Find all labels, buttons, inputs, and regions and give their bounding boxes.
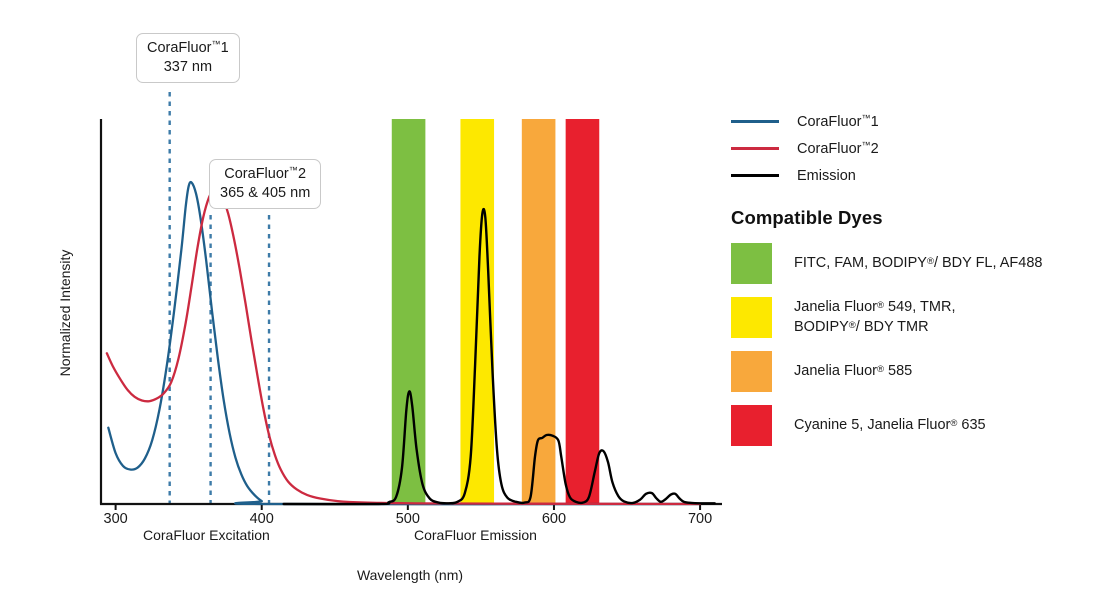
series-corafluor1-line-swatch (731, 120, 779, 123)
x-axis-label: Wavelength (nm) (300, 567, 520, 583)
legend-row-dye-yellow[interactable]: Janelia Fluor® 549, TMR,BODIPY®/ BDY TMR (731, 297, 1103, 338)
dye-green-label: FITC, FAM, BODIPY®/ BDY FL, AF488 (794, 254, 1042, 273)
curve-emission (284, 209, 715, 504)
dye-orange-label: Janelia Fluor® 585 (794, 362, 912, 381)
compatible-dyes-list: FITC, FAM, BODIPY®/ BDY FL, AF488Janelia… (731, 243, 1103, 446)
compatible-dyes-heading: Compatible Dyes (731, 207, 1103, 229)
spectra-figure: CoraFluor™1 337 nm CoraFluor™2 365 & 405… (0, 0, 1110, 612)
legend-row-dye-orange[interactable]: Janelia Fluor® 585 (731, 351, 1103, 392)
callout-cf2-title: CoraFluor™2 (224, 166, 306, 182)
series-emission-label: Emission (797, 167, 856, 184)
dye-red-label: Cyanine 5, Janelia Fluor® 635 (794, 416, 986, 435)
dye-red-swatch (731, 405, 772, 446)
dye-yellow-label: Janelia Fluor® 549, TMR,BODIPY®/ BDY TMR (794, 298, 955, 337)
legend-row-dye-green[interactable]: FITC, FAM, BODIPY®/ BDY FL, AF488 (731, 243, 1103, 284)
excitation-region-label: CoraFluor Excitation (143, 527, 270, 543)
legend-row-dye-red[interactable]: Cyanine 5, Janelia Fluor® 635 (731, 405, 1103, 446)
callout-cf1-value: 337 nm (147, 58, 229, 77)
x-tick-label-300: 300 (86, 511, 146, 527)
legend-row-series-corafluor2[interactable]: CoraFluor™2 (731, 135, 1103, 162)
x-tick-label-500: 500 (378, 511, 438, 527)
series-emission-line-swatch (731, 174, 779, 178)
series-corafluor1-label: CoraFluor™1 (797, 113, 879, 130)
y-axis-label: Normalized Intensity (57, 218, 73, 408)
legend-row-series-emission[interactable]: Emission (731, 162, 1103, 189)
callout-cf1-title: CoraFluor™1 (147, 40, 229, 56)
red-band (566, 119, 600, 504)
series-legend: CoraFluor™1CoraFluor™2Emission (731, 108, 1103, 189)
dye-yellow-swatch (731, 297, 772, 338)
legend-row-series-corafluor1[interactable]: CoraFluor™1 (731, 108, 1103, 135)
x-tick-label-700: 700 (670, 511, 730, 527)
series-corafluor2-label: CoraFluor™2 (797, 140, 879, 157)
x-tick-label-400: 400 (232, 511, 292, 527)
chart-legend: CoraFluor™1CoraFluor™2Emission Compatibl… (731, 108, 1103, 459)
x-tick-label-600: 600 (524, 511, 584, 527)
orange-band (522, 119, 556, 504)
dye-orange-swatch (731, 351, 772, 392)
callout-corafluor2: CoraFluor™2 365 & 405 nm (209, 159, 321, 209)
callout-cf2-value: 365 & 405 nm (220, 184, 310, 203)
dye-green-swatch (731, 243, 772, 284)
callout-corafluor1: CoraFluor™1 337 nm (136, 33, 240, 83)
series-corafluor2-line-swatch (731, 147, 779, 150)
green-band (392, 119, 426, 504)
emission-region-label: CoraFluor Emission (414, 527, 537, 543)
